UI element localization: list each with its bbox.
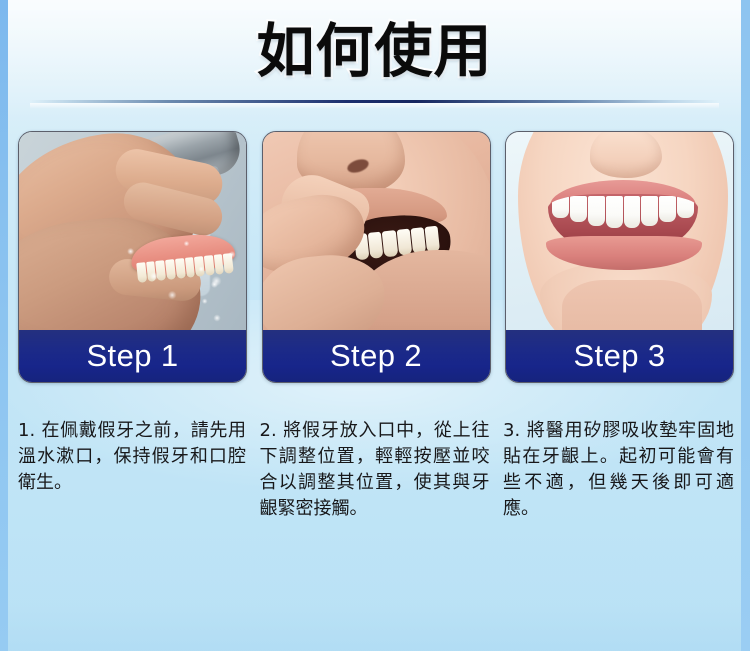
step-2-bar: Step 2	[263, 330, 490, 382]
step-1-description: 1. 在佩戴假牙之前，請先用溫水漱口，保持假牙和口腔衛生。	[18, 418, 246, 522]
step-panels: Step 1	[18, 131, 734, 381]
step-3-label: Step 3	[573, 339, 665, 373]
right-edge-strip	[741, 0, 750, 651]
smiling-face-illustration	[506, 132, 733, 330]
title-divider-glow	[30, 103, 719, 109]
water-splash	[188, 262, 232, 330]
nose	[590, 132, 662, 178]
step-2-label: Step 2	[330, 339, 422, 373]
step-descriptions: 1. 在佩戴假牙之前，請先用溫水漱口，保持假牙和口腔衛生。 2. 將假牙放入口中…	[18, 418, 734, 522]
step-panel-2[interactable]: Step 2	[262, 131, 491, 383]
step-2-description: 2. 將假牙放入口中，從上往下調整位置，輕輕按壓並咬合以調整其位置，使其與牙齦緊…	[260, 418, 490, 522]
step-3-description: 3. 將醫用矽膠吸收墊牢固地貼在牙齦上。起初可能會有些不適，但幾天後即可適應。	[503, 418, 734, 522]
step-3-photo	[506, 132, 733, 330]
neck	[562, 280, 702, 330]
step-1-bar: Step 1	[19, 330, 246, 382]
left-edge-strip	[0, 0, 8, 651]
denture-rinsing-illustration	[19, 132, 246, 330]
step-1-label: Step 1	[86, 339, 178, 373]
page-title: 如何使用	[8, 18, 741, 84]
background-bottom-wash	[0, 531, 750, 651]
white-teeth	[552, 196, 694, 230]
how-to-use-infographic: 如何使用	[0, 0, 750, 651]
denture-insertion-illustration	[263, 132, 490, 330]
step-3-bar: Step 3	[506, 330, 733, 382]
step-panel-1[interactable]: Step 1	[18, 131, 247, 383]
step-2-photo	[263, 132, 490, 330]
header: 如何使用	[8, 0, 741, 104]
step-1-photo	[19, 132, 246, 330]
step-panel-3[interactable]: Step 3	[505, 131, 734, 383]
